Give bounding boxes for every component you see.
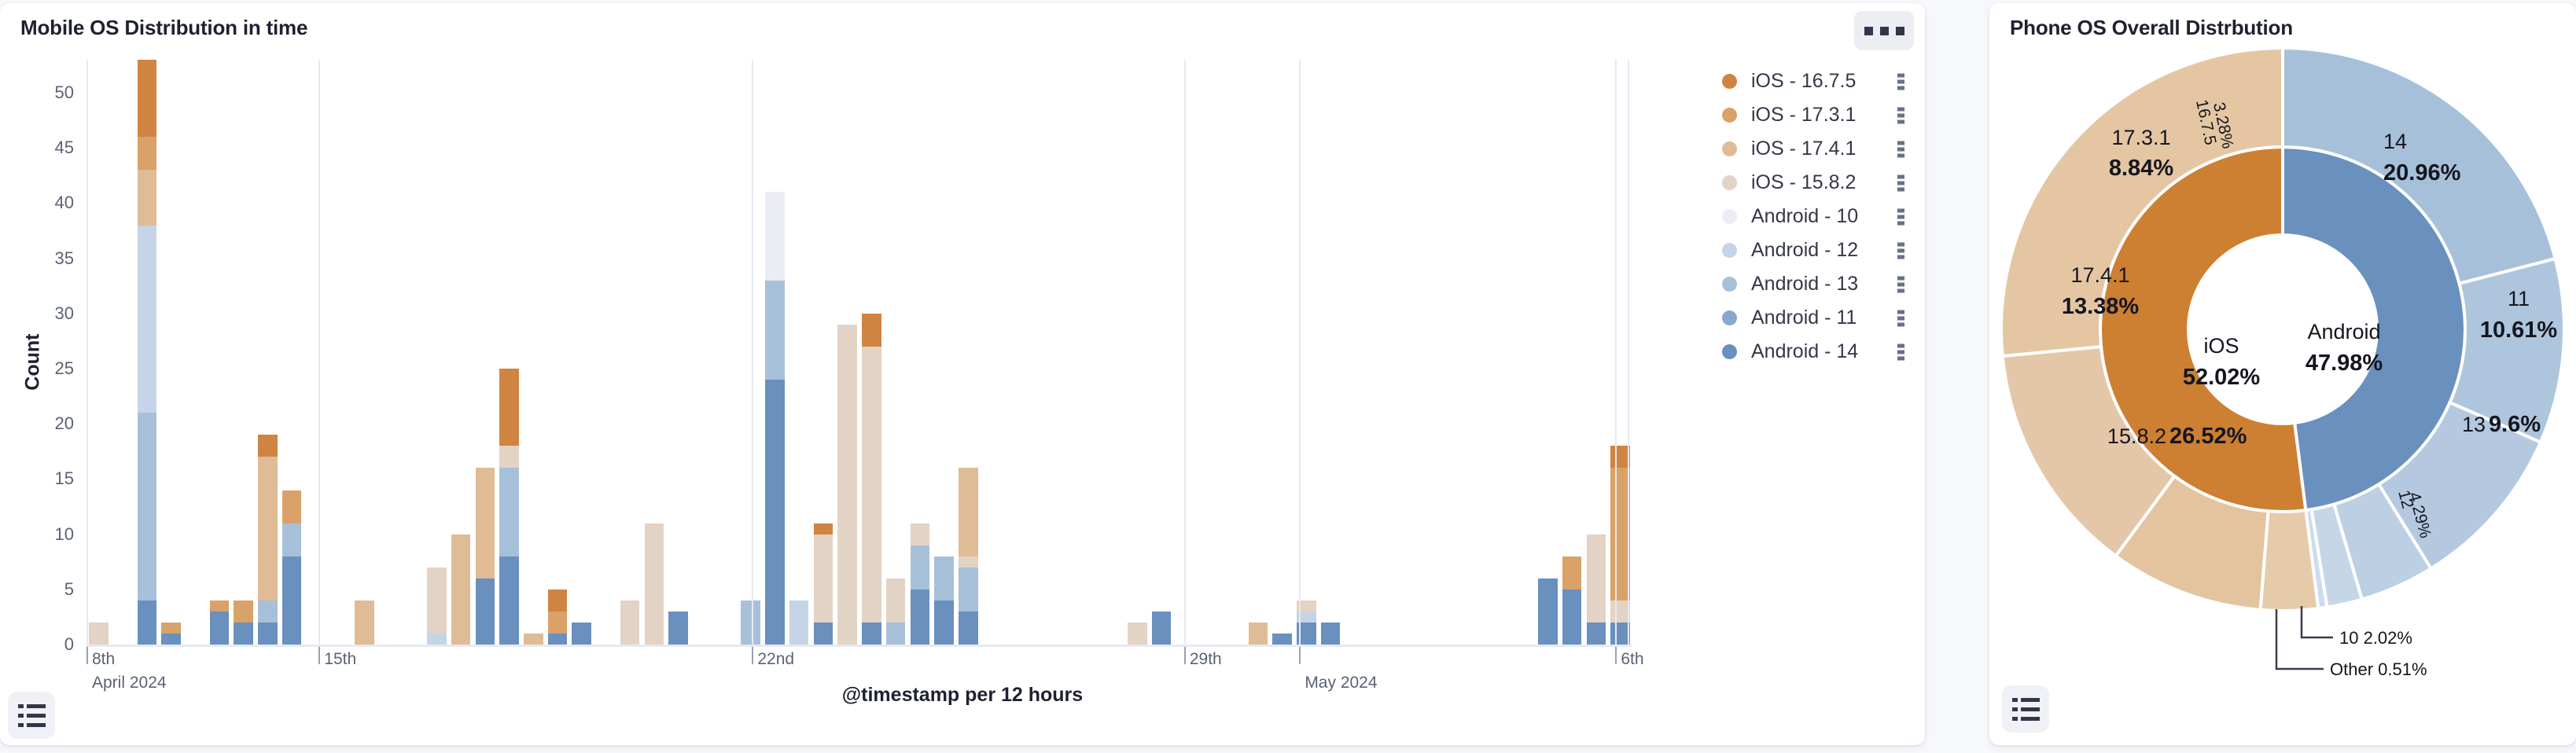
list-line xyxy=(27,704,46,708)
bar-stack[interactable] xyxy=(282,490,302,645)
legend-item-label: Android - 14 xyxy=(1751,340,1858,363)
x-gridline-origin xyxy=(86,60,88,645)
bar-stack[interactable] xyxy=(548,590,568,645)
grip-bar xyxy=(1897,113,1904,117)
bar-stack[interactable] xyxy=(959,468,978,645)
bar-segment xyxy=(282,556,302,645)
bar-segment xyxy=(234,623,253,645)
bar-segment xyxy=(911,545,930,590)
grip-bar xyxy=(1897,255,1904,259)
bar-stack[interactable] xyxy=(258,435,278,645)
y-axis-tick-label: 20 xyxy=(24,413,74,434)
bar-stack[interactable] xyxy=(789,601,809,645)
tick-label-primary: 22nd xyxy=(757,650,794,669)
list-line xyxy=(27,723,46,727)
grip-bar xyxy=(1897,322,1904,326)
page-title: Phone OS Overall Distrbution xyxy=(2010,16,2293,40)
legend-item-label: Android - 13 xyxy=(1751,273,1858,296)
legend-item-label: iOS - 17.3.1 xyxy=(1751,104,1856,127)
y-axis-tick-label: 45 xyxy=(24,138,74,158)
bar-stack[interactable] xyxy=(476,468,495,645)
bar-chart: Count 05101520253035404550 8thApril 2024… xyxy=(0,47,1925,707)
bar-stack[interactable] xyxy=(451,534,471,645)
bar-segment xyxy=(138,413,157,601)
y-axis-tick-label: 30 xyxy=(24,303,74,324)
tick-mark xyxy=(1184,647,1186,664)
bar-stack[interactable] xyxy=(89,623,109,645)
slice-label: 47.98% xyxy=(2306,351,2383,376)
bar-segment xyxy=(1321,623,1341,645)
legend-color-dot xyxy=(1722,141,1737,156)
slice-label: 20.96% xyxy=(2383,160,2461,185)
grip-bar xyxy=(1897,86,1904,90)
grip-bar xyxy=(1897,350,1904,354)
bar-segment xyxy=(862,314,881,347)
bar-segment xyxy=(765,192,785,280)
bar-stack[interactable] xyxy=(886,579,906,645)
bar-segment xyxy=(138,226,157,413)
y-axis-tick-label: 40 xyxy=(24,193,74,213)
bar-segment xyxy=(814,534,834,623)
bar-segment xyxy=(620,601,640,645)
bar-segment xyxy=(1152,612,1172,645)
bar-stack[interactable] xyxy=(741,601,760,645)
callout-label: 10 2.02% xyxy=(2339,628,2412,648)
grip-bar xyxy=(1897,141,1904,145)
legend-item[interactable]: iOS - 15.8.2 xyxy=(1722,166,1919,200)
legend-color-dot xyxy=(1722,74,1737,89)
bar-segment xyxy=(1587,534,1606,623)
bar-segment xyxy=(959,612,978,645)
bar-segment xyxy=(789,601,809,645)
grip-bar xyxy=(1897,343,1904,347)
tick-label-primary: 29th xyxy=(1190,650,1222,669)
bar-segment xyxy=(258,623,278,645)
bar-segment xyxy=(138,60,157,137)
bar-segment xyxy=(282,490,302,523)
bar-segment xyxy=(911,523,930,545)
bar-segment xyxy=(1249,623,1268,645)
tick-mark xyxy=(752,647,753,664)
drag-handle-icon[interactable] xyxy=(1897,174,1904,191)
bar-segment xyxy=(476,468,495,578)
bar-stack[interactable] xyxy=(572,623,591,645)
slice-label: iOS xyxy=(2203,334,2239,358)
y-axis-ticks: 05101520253035404550 xyxy=(16,47,74,645)
chart-legend: iOS - 16.7.5iOS - 17.3.1iOS - 17.4.1iOS … xyxy=(1722,64,1919,369)
bar-segment xyxy=(524,634,543,645)
dashboard: Mobile OS Distribution in time Count 051… xyxy=(0,0,2576,753)
bar-stack[interactable] xyxy=(234,601,253,645)
bar-segment xyxy=(499,446,519,468)
bar-stack[interactable] xyxy=(934,556,954,645)
bar-segment xyxy=(234,601,253,623)
list-bullet xyxy=(18,714,24,718)
bar-stack[interactable] xyxy=(1152,612,1172,645)
y-axis-tick-label: 25 xyxy=(24,358,74,379)
ellipsis-dot xyxy=(1880,27,1889,35)
bar-stack[interactable] xyxy=(499,369,519,645)
bar-segment xyxy=(355,601,374,645)
bar-stack[interactable] xyxy=(1587,534,1606,645)
grip-bar xyxy=(1897,147,1904,151)
bar-segment xyxy=(886,579,906,623)
legend-item[interactable]: iOS - 16.7.5 xyxy=(1722,64,1919,98)
bar-segment xyxy=(258,601,278,623)
list-bullet xyxy=(18,704,24,708)
legend-item[interactable]: Android - 13 xyxy=(1722,267,1919,301)
slice-label: 26.52% xyxy=(2169,424,2247,449)
bar-segment xyxy=(1562,590,1582,645)
bar-stack[interactable] xyxy=(765,192,785,645)
bar-stack[interactable] xyxy=(1321,623,1341,645)
bar-segment xyxy=(548,634,568,645)
grip-bar xyxy=(1897,181,1904,185)
grip-bar xyxy=(1897,282,1904,286)
grip-bar xyxy=(1897,107,1904,111)
bar-segment xyxy=(1272,634,1292,645)
bar-segment xyxy=(1128,623,1147,645)
y-axis-tick-label: 50 xyxy=(24,83,74,103)
page-title: Mobile OS Distribution in time xyxy=(20,16,307,40)
bar-stack[interactable] xyxy=(427,568,447,645)
bar-segment xyxy=(668,612,688,645)
list-bullet xyxy=(2012,717,2018,721)
bar-stack[interactable] xyxy=(837,325,857,645)
legend-item[interactable]: Android - 14 xyxy=(1722,335,1919,369)
slice-label: 11 xyxy=(2508,287,2530,310)
x-gridline xyxy=(752,60,753,645)
bar-segment xyxy=(427,568,447,634)
grip-bar xyxy=(1897,242,1904,246)
bar-segment xyxy=(89,623,109,645)
tick-mark xyxy=(1615,647,1617,664)
panel-mobile-os-distribution: Mobile OS Distribution in time Count 051… xyxy=(0,3,1925,745)
bar-segment xyxy=(862,623,881,645)
y-axis-tick-label: 35 xyxy=(24,248,74,269)
bar-segment xyxy=(814,623,834,645)
drag-handle-icon[interactable] xyxy=(1897,310,1904,326)
legend-item[interactable]: Android - 12 xyxy=(1722,233,1919,267)
bar-segment xyxy=(499,468,519,556)
bar-stack[interactable] xyxy=(668,612,688,645)
bar-segment xyxy=(572,623,591,645)
legend-item-label: iOS - 17.4.1 xyxy=(1751,138,1856,160)
legend-item-label: Android - 11 xyxy=(1751,307,1857,329)
legend-item[interactable]: Android - 11 xyxy=(1722,301,1919,335)
bar-segment xyxy=(548,590,568,612)
x-gridline xyxy=(1628,60,1629,645)
bar-segment xyxy=(765,281,785,380)
grip-bar xyxy=(1897,356,1904,360)
grip-bar xyxy=(1897,221,1904,225)
legend-item-label: Android - 10 xyxy=(1751,205,1858,228)
grip-bar xyxy=(1897,119,1904,123)
legend-color-dot xyxy=(1722,175,1737,190)
slice-label: 9.6% xyxy=(2489,412,2541,437)
y-axis-tick-label: 15 xyxy=(24,468,74,489)
grip-bar xyxy=(1897,248,1904,252)
bar-segment xyxy=(1538,579,1558,645)
y-axis-tick-label: 0 xyxy=(24,634,74,655)
grip-bar xyxy=(1897,215,1904,219)
slice-label: 10.61% xyxy=(2480,318,2558,343)
list-line xyxy=(2021,707,2040,711)
legend-item[interactable]: iOS - 17.3.1 xyxy=(1722,98,1919,132)
grip-bar xyxy=(1897,73,1904,77)
legend-color-dot xyxy=(1722,209,1737,224)
bar-segment xyxy=(138,601,157,645)
bar-stack[interactable] xyxy=(210,601,230,645)
bar-stack[interactable] xyxy=(911,523,930,645)
bar-segment xyxy=(451,534,471,645)
bar-segment xyxy=(837,325,857,645)
legend-item-label: Android - 12 xyxy=(1751,239,1858,262)
list-icon[interactable] xyxy=(8,692,55,739)
sunburst-chart[interactable]: iOS52.02%Android47.98%1420.96%1110.61%13… xyxy=(1989,42,2576,687)
bar-segment xyxy=(886,623,906,645)
legend-color-dot xyxy=(1722,108,1737,123)
bar-segment xyxy=(862,347,881,623)
grip-bar xyxy=(1897,288,1904,292)
ellipsis-icon[interactable] xyxy=(1854,11,1914,50)
legend-color-dot xyxy=(1722,310,1737,325)
bar-stack[interactable] xyxy=(862,314,881,645)
x-gridline xyxy=(1184,60,1186,645)
bar-segment xyxy=(161,623,181,634)
bar-segment xyxy=(161,634,181,645)
x-axis-title: @timestamp per 12 hours xyxy=(0,684,1925,707)
bar-segment xyxy=(645,523,664,645)
bar-segment xyxy=(934,556,954,601)
drag-handle-icon[interactable] xyxy=(1897,242,1904,259)
grip-bar xyxy=(1897,79,1904,83)
drag-handle-icon[interactable] xyxy=(1897,276,1904,292)
list-line xyxy=(2021,698,2040,702)
list-bullet xyxy=(2012,707,2018,711)
slice-label: 15.8.2 xyxy=(2107,424,2166,448)
drag-handle-icon[interactable] xyxy=(1897,208,1904,225)
bar-segment xyxy=(814,523,834,534)
slice-label: 13.38% xyxy=(2062,294,2140,319)
grip-bar xyxy=(1897,310,1904,314)
slice-label: 8.84% xyxy=(2109,156,2173,181)
drag-handle-icon[interactable] xyxy=(1897,107,1904,123)
bar-stack[interactable] xyxy=(161,623,181,645)
legend-color-dot xyxy=(1722,243,1737,258)
grip-bar xyxy=(1897,153,1904,157)
callout-label: Other 0.51% xyxy=(2330,659,2427,679)
grip-bar xyxy=(1897,187,1904,191)
bar-segment xyxy=(934,601,954,645)
bar-segment xyxy=(138,170,157,225)
bar-segment xyxy=(499,369,519,446)
slice-label: 17.3.1 xyxy=(2111,126,2170,149)
legend-color-dot xyxy=(1722,277,1737,292)
list-icon[interactable] xyxy=(2002,685,2049,733)
bar-segment xyxy=(499,556,519,645)
bar-segment xyxy=(741,601,760,645)
slice-label: Android xyxy=(2307,320,2380,343)
callout-leader xyxy=(2276,609,2324,669)
bar-segment xyxy=(959,568,978,612)
bar-stack[interactable] xyxy=(1128,623,1147,645)
bar-segment xyxy=(282,523,302,556)
drag-handle-icon[interactable] xyxy=(1897,141,1904,157)
x-gridline xyxy=(1299,60,1301,645)
tick-mark xyxy=(318,647,320,664)
bar-stack[interactable] xyxy=(355,601,374,645)
ellipsis-dot xyxy=(1864,27,1873,35)
bar-stack[interactable] xyxy=(814,523,834,645)
legend-item[interactable]: iOS - 17.4.1 xyxy=(1722,132,1919,166)
bar-segment xyxy=(210,612,230,645)
bar-segment xyxy=(765,380,785,645)
ellipsis-dot xyxy=(1896,27,1904,35)
plot-area[interactable] xyxy=(86,60,1632,645)
y-axis-tick-label: 10 xyxy=(24,524,74,545)
tick-mark xyxy=(1299,647,1301,664)
tick-label-primary: 6th xyxy=(1621,650,1643,669)
list-bullet xyxy=(18,723,24,727)
bar-stack[interactable] xyxy=(1272,634,1292,645)
bar-stack[interactable] xyxy=(1538,579,1558,645)
bar-segment xyxy=(959,556,978,568)
slice-label: 17.4.1 xyxy=(2070,263,2129,287)
bar-segment xyxy=(258,457,278,600)
bar-segment xyxy=(1562,556,1582,590)
bar-segment xyxy=(210,601,230,612)
drag-handle-icon[interactable] xyxy=(1897,73,1904,90)
slice-label: 52.02% xyxy=(2183,365,2261,390)
sunburst-svg: iOS52.02%Android47.98%1420.96%1110.61%13… xyxy=(1989,42,2576,687)
bar-stack[interactable] xyxy=(1562,556,1582,645)
grip-bar xyxy=(1897,276,1904,280)
x-gridline xyxy=(1615,60,1617,645)
grip-bar xyxy=(1897,208,1904,212)
legend-item[interactable]: Android - 10 xyxy=(1722,200,1919,233)
bar-segment xyxy=(476,579,495,645)
bar-segment xyxy=(1587,623,1606,645)
legend-item-label: iOS - 16.7.5 xyxy=(1751,70,1856,93)
tick-label-primary: 8th xyxy=(92,650,115,669)
legend-color-dot xyxy=(1722,344,1737,359)
slice-label: 13 xyxy=(2462,413,2486,436)
bar-stack[interactable] xyxy=(645,523,664,645)
bar-stack[interactable] xyxy=(524,634,543,645)
tick-mark xyxy=(86,647,88,664)
grip-bar xyxy=(1897,316,1904,320)
bar-stack[interactable] xyxy=(620,601,640,645)
tick-label-primary: 15th xyxy=(324,650,356,669)
legend-item-label: iOS - 15.8.2 xyxy=(1751,171,1856,194)
grip-bar xyxy=(1897,174,1904,178)
list-line xyxy=(2021,717,2040,721)
bar-segment xyxy=(548,612,568,634)
bar-stack[interactable] xyxy=(1249,623,1268,645)
list-bullet xyxy=(2012,698,2018,702)
bar-segment xyxy=(138,137,157,170)
bar-segment xyxy=(959,468,978,556)
bar-segment xyxy=(911,590,930,645)
x-gridline xyxy=(318,60,320,645)
list-line xyxy=(27,714,46,718)
bar-stack[interactable] xyxy=(138,60,157,645)
bar-segment xyxy=(258,435,278,457)
slice-label: 14 xyxy=(2383,130,2407,153)
y-axis-tick-label: 5 xyxy=(24,579,74,600)
drag-handle-icon[interactable] xyxy=(1897,343,1904,360)
bar-segment xyxy=(427,634,447,645)
panel-phone-os-overall: Phone OS Overall Distrbution iOS52.02%An… xyxy=(1989,3,2576,745)
